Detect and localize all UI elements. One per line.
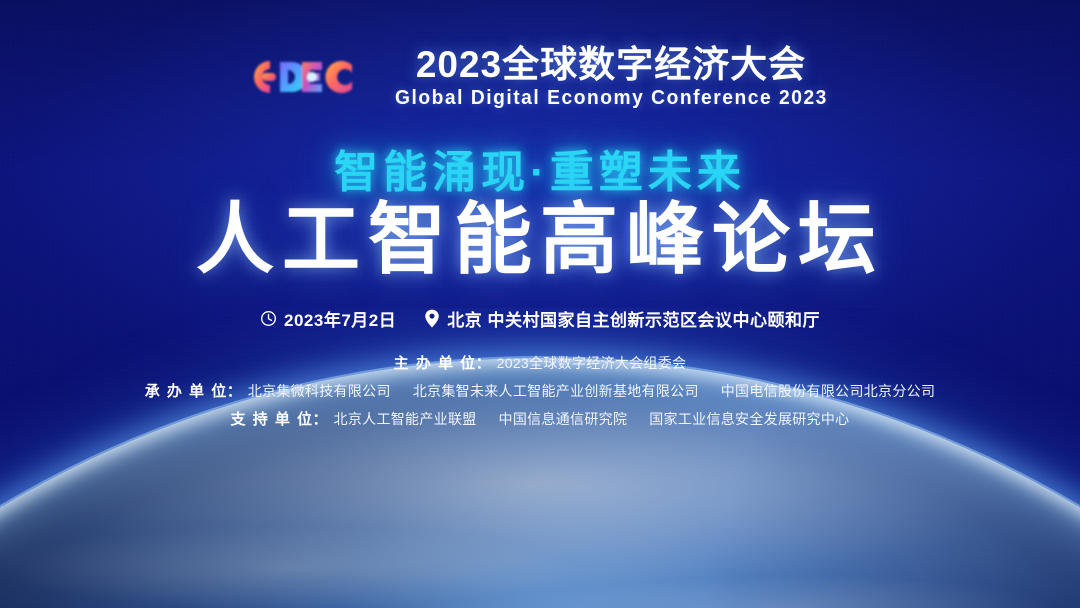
poster-content: 2023全球数字经济大会 Global Digital Economy Conf… bbox=[0, 0, 1080, 608]
organizer-list: 主办单位 ： 2023全球数字经济大会组委会 承办单位 ： 北京集微科技有限公司… bbox=[0, 352, 1080, 429]
organizer-label: 承办单位 bbox=[145, 380, 227, 401]
organizer-colon: ： bbox=[476, 352, 491, 373]
clock-icon bbox=[260, 310, 277, 327]
map-pin-icon bbox=[424, 309, 440, 328]
event-location-text: 北京 中关村国家自主创新示范区会议中心颐和厅 bbox=[447, 306, 820, 331]
poster-header: 2023全球数字经济大会 Global Digital Economy Conf… bbox=[0, 46, 1080, 109]
organizer-row: 承办单位 ： 北京集微科技有限公司 北京集智未来人工智能产业创新基地有限公司 中… bbox=[145, 380, 936, 401]
organizer-label: 支持单位 bbox=[231, 408, 313, 429]
organizer-value: 中国信息通信研究院 bbox=[499, 409, 628, 429]
poster-slogan: 智能涌现·重塑未来 bbox=[0, 136, 1080, 200]
gdec-logo-icon bbox=[244, 49, 364, 105]
organizer-values: 北京人工智能产业联盟 中国信息通信研究院 国家工业信息安全发展研究中心 bbox=[334, 409, 850, 429]
organizer-value: 中国电信股份有限公司北京分公司 bbox=[721, 381, 936, 401]
page-title: 人工智能高峰论坛 bbox=[0, 196, 1080, 283]
organizer-values: 2023全球数字经济大会组委会 bbox=[497, 353, 687, 373]
organizer-colon: ： bbox=[227, 380, 242, 401]
organizer-label: 主办单位 bbox=[394, 352, 476, 373]
conference-name-en: Global Digital Economy Conference 2023 bbox=[395, 87, 828, 109]
organizer-value: 北京集微科技有限公司 bbox=[248, 381, 391, 401]
organizer-colon: ： bbox=[313, 408, 328, 429]
organizer-value: 国家工业信息安全发展研究中心 bbox=[649, 409, 849, 429]
conference-name-cn: 2023全球数字经济大会 bbox=[416, 46, 806, 85]
event-date-text: 2023年7月2日 bbox=[284, 306, 396, 331]
organizer-value: 北京人工智能产业联盟 bbox=[334, 409, 477, 429]
event-date: 2023年7月2日 bbox=[260, 306, 396, 331]
organizer-row: 主办单位 ： 2023全球数字经济大会组委会 bbox=[394, 352, 687, 373]
conference-poster: 2023全球数字经济大会 Global Digital Economy Conf… bbox=[0, 0, 1080, 608]
organizer-values: 北京集微科技有限公司 北京集智未来人工智能产业创新基地有限公司 中国电信股份有限… bbox=[248, 381, 936, 401]
organizer-value: 2023全球数字经济大会组委会 bbox=[497, 353, 687, 373]
conference-title-block: 2023全球数字经济大会 Global Digital Economy Conf… bbox=[386, 46, 837, 109]
organizer-row: 支持单位 ： 北京人工智能产业联盟 中国信息通信研究院 国家工业信息安全发展研究… bbox=[231, 408, 850, 429]
organizer-value: 北京集智未来人工智能产业创新基地有限公司 bbox=[413, 381, 699, 401]
event-location: 北京 中关村国家自主创新示范区会议中心颐和厅 bbox=[424, 306, 820, 331]
event-meta: 2023年7月2日 北京 中关村国家自主创新示范区会议中心颐和厅 bbox=[0, 306, 1080, 331]
